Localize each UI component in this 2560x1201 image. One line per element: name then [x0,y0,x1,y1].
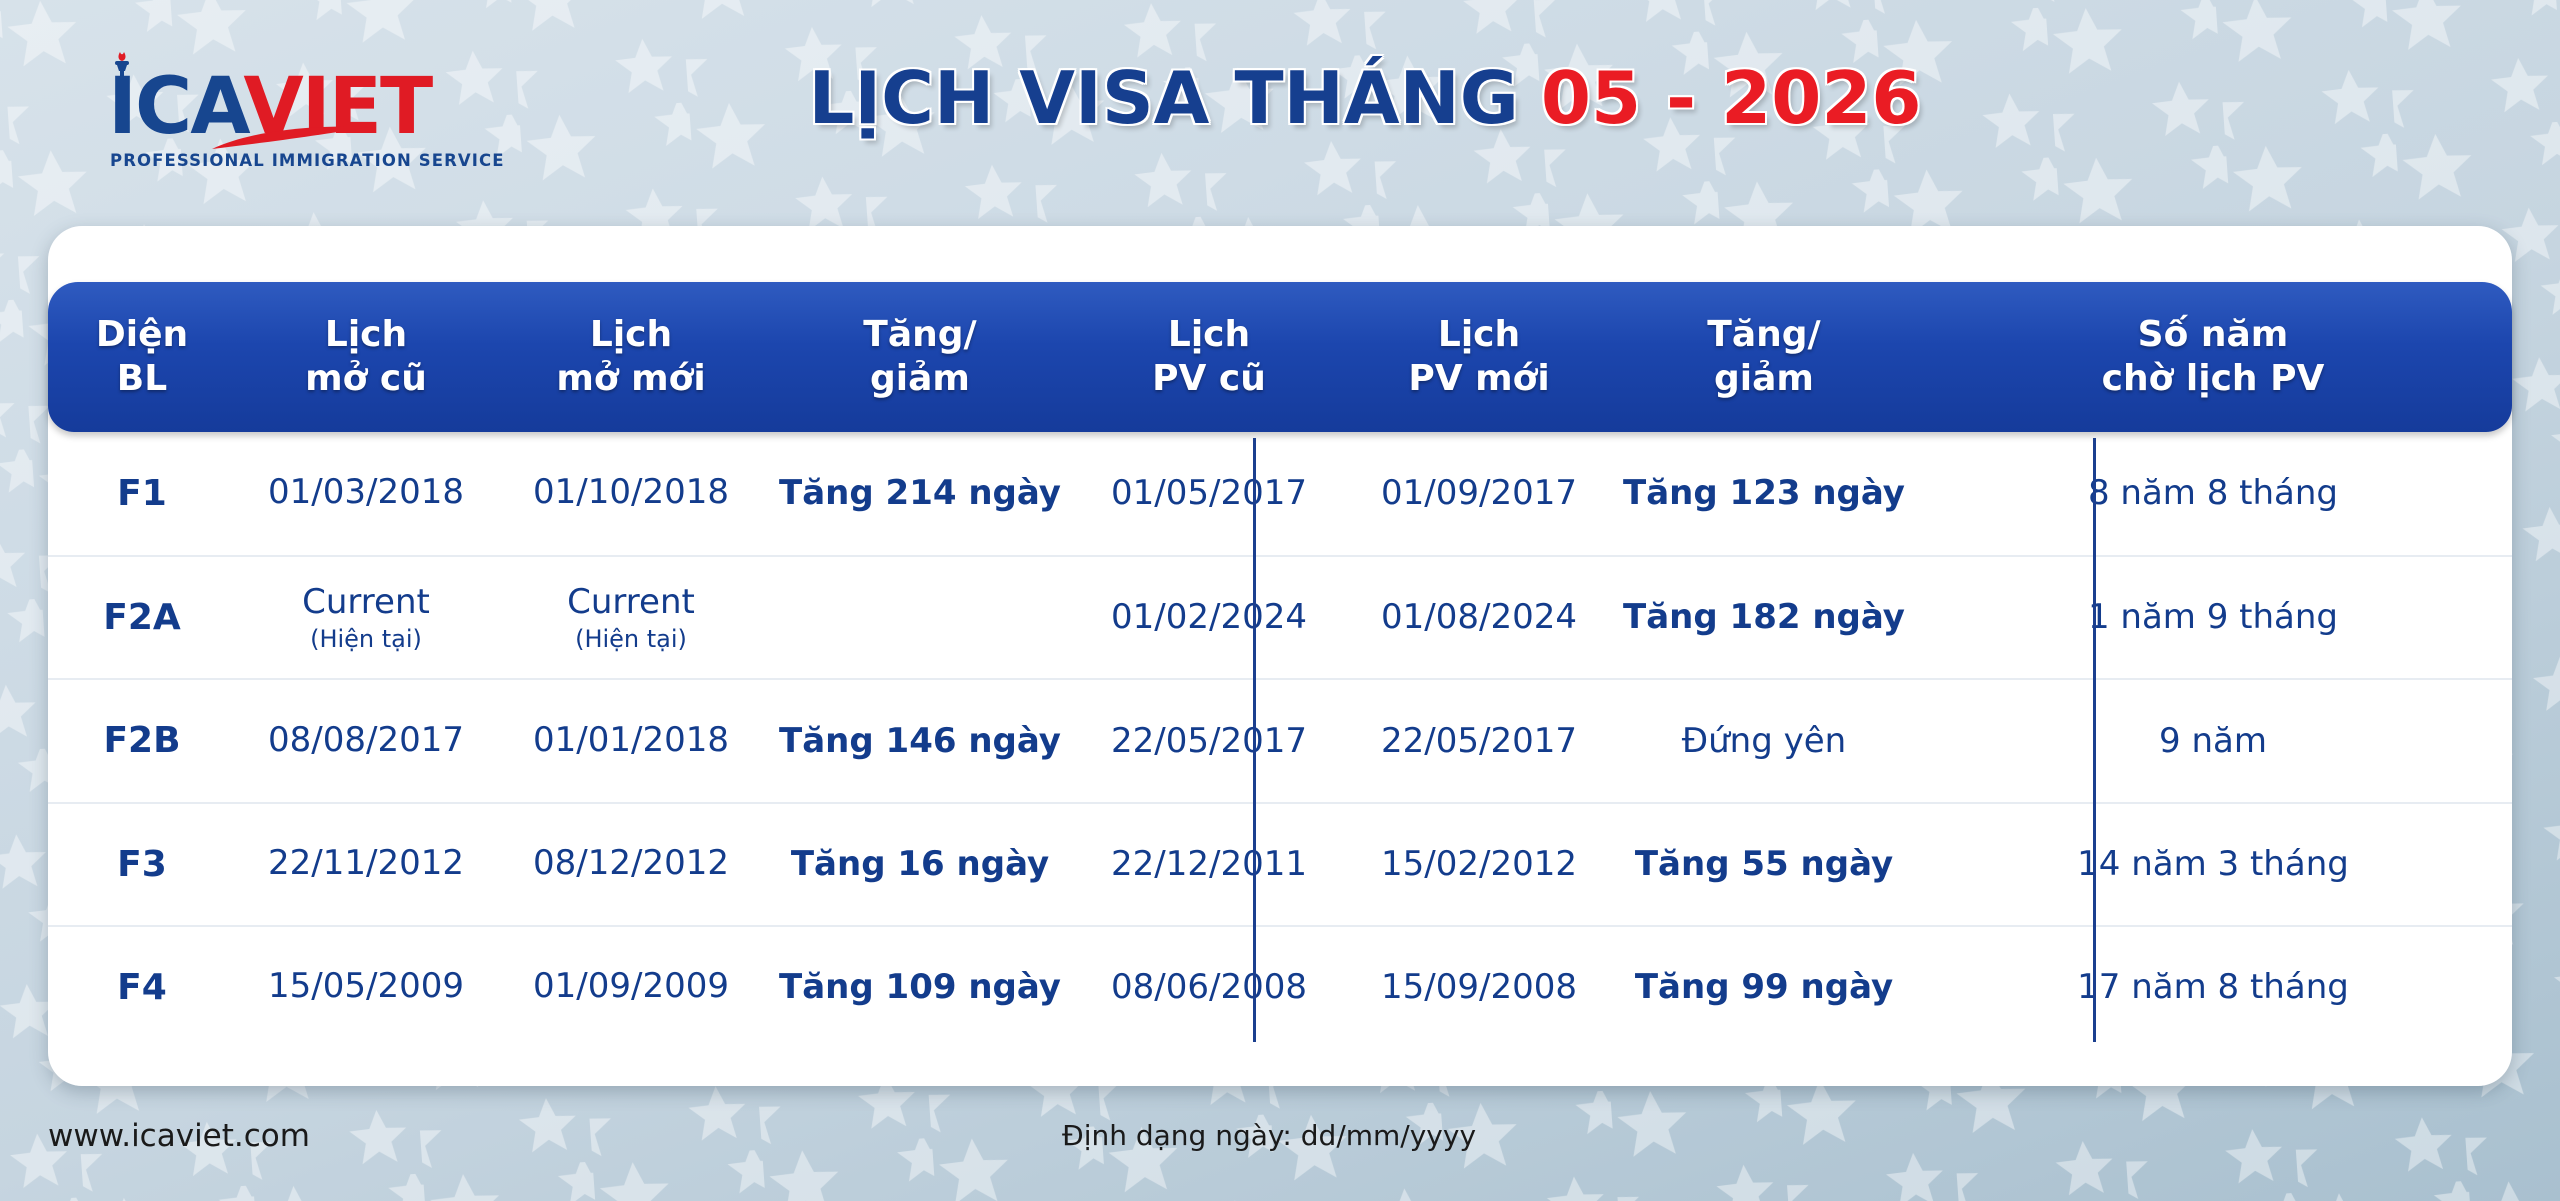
cell-category: F3 [48,804,236,925]
vertical-divider-fd-pv [1253,438,1256,1042]
table-row: F3 22/11/2012 08/12/2012 Tăng 16 ngày 22… [48,802,2512,925]
cell-pv-delta: Tăng 182 ngày [1614,557,1914,678]
cell-pv-delta: Tăng 55 ngày [1614,804,1914,925]
cell-pv-delta: Tăng 123 ngày [1614,432,1914,555]
table-row: F2B 08/08/2017 01/01/2018 Tăng 146 ngày … [48,678,2512,801]
table-row: F1 01/03/2018 01/10/2018 Tăng 214 ngày 0… [48,432,2512,555]
date-format-note: Định dạng ngày: dd/mm/yyyy [1062,1119,1476,1152]
value: 15/05/2009 [268,966,464,1007]
cell-wait-time: 9 năm [1914,680,2512,801]
cell-fd-old: 01/03/2018 [236,432,496,555]
cell-fd-old: 22/11/2012 [236,804,496,925]
column-header-lich-pv-moi: Lịch PV mới [1344,282,1614,432]
title-month-year: 05 - 2026 [1541,62,1922,134]
column-header-so-nam-cho: Số năm chờ lịch PV [1914,282,2512,432]
column-header-lich-mo-cu: Lịch mở cũ [236,282,496,432]
column-header-dien-bl: Diện BL [48,282,236,432]
column-header-lich-pv-cu: Lịch PV cũ [1074,282,1344,432]
header-line-2: PV mới [1408,357,1549,401]
value: Current [567,582,695,623]
cell-category: F1 [48,432,236,555]
cell-fd-new: 01/01/2018 [496,680,766,801]
value: 01/01/2018 [533,720,729,761]
cell-pv-new: 01/08/2024 [1344,557,1614,678]
value: 22/11/2012 [268,843,464,884]
header-line-1: Lịch [1438,313,1520,357]
cell-wait-time: 1 năm 9 tháng [1914,557,2512,678]
cell-pv-new: 15/02/2012 [1344,804,1614,925]
table-row: F4 15/05/2009 01/09/2009 Tăng 109 ngày 0… [48,925,2512,1048]
column-header-tang-giam-fd: Tăng/ giảm [766,282,1074,432]
cell-fd-old: Current (Hiện tại) [236,557,496,678]
cell-pv-new: 22/05/2017 [1344,680,1614,801]
logo-swoosh-icon [210,123,370,153]
cell-pv-new: 01/09/2017 [1344,432,1614,555]
page-title: LỊCH VISA THÁNG 05 - 2026 [740,48,1990,148]
table-body: F1 01/03/2018 01/10/2018 Tăng 214 ngày 0… [48,432,2512,1048]
cell-fd-delta: Tăng 16 ngày [766,804,1074,925]
table-header-row: Diện BL Lịch mở cũ Lịch mở mới Tăng/ giả… [48,282,2512,432]
header-line-1: Tăng/ [863,313,976,357]
cell-fd-old: 08/08/2017 [236,680,496,801]
header-line-2: giảm [1714,357,1814,401]
cell-category: F2B [48,680,236,801]
header-line-1: Tăng/ [1707,313,1820,357]
title-main-text: LỊCH VISA THÁNG [808,62,1518,134]
header-line-2: chờ lịch PV [2102,357,2325,401]
table-row: F2A Current (Hiện tại) Current (Hiện tại… [48,555,2512,678]
cell-wait-time: 17 năm 8 tháng [1914,927,2512,1048]
header-line-1: Lịch [325,313,407,357]
cell-wait-time: 8 năm 8 tháng [1914,432,2512,555]
cell-fd-delta: Tăng 109 ngày [766,927,1074,1048]
cell-fd-new: 01/09/2009 [496,927,766,1048]
header-line-2: mở cũ [305,357,427,401]
header-line-1: Lịch [590,313,672,357]
value: Current [302,582,430,623]
value: 08/12/2012 [533,843,729,884]
cell-pv-new: 15/09/2008 [1344,927,1614,1048]
cell-category: F4 [48,927,236,1048]
cell-fd-delta: Tăng 146 ngày [766,680,1074,801]
cell-pv-old: 01/02/2024 [1074,557,1344,678]
value: 01/03/2018 [268,472,464,513]
value: 01/10/2018 [533,472,729,513]
header-line-1: Số năm [2138,313,2289,357]
cell-pv-delta: Tăng 99 ngày [1614,927,1914,1048]
cell-fd-delta: Tăng 214 ngày [766,432,1074,555]
cell-fd-delta [766,557,1074,678]
value: 08/08/2017 [268,720,464,761]
logo-tagline: PROFESSIONAL IMMIGRATION SERVICE [110,151,505,170]
cell-category: F2A [48,557,236,678]
cell-fd-new: 08/12/2012 [496,804,766,925]
header-line-2: mở mới [556,357,705,401]
cell-pv-old: 22/05/2017 [1074,680,1344,801]
cell-wait-time: 14 năm 3 tháng [1914,804,2512,925]
cell-fd-old: 15/05/2009 [236,927,496,1048]
cell-pv-old: 08/06/2008 [1074,927,1344,1048]
website-url[interactable]: www.icaviet.com [48,1118,310,1154]
header-line-1: Lịch [1168,313,1250,357]
header-line-2: BL [117,357,167,401]
vertical-divider-pv-wait [2093,438,2096,1042]
page-footer: www.icaviet.com Định dạng ngày: dd/mm/yy… [0,1086,2560,1201]
page-header: ICAVIET PROFESSIONAL IMMIGRATION SERVICE… [0,0,2560,225]
cell-fd-new: 01/10/2018 [496,432,766,555]
cell-pv-old: 22/12/2011 [1074,804,1344,925]
value-sub: (Hiện tại) [310,625,422,654]
header-line-2: PV cũ [1152,357,1266,401]
header-line-1: Diện [96,313,188,357]
value: 01/09/2009 [533,966,729,1007]
column-header-tang-giam-pv: Tăng/ giảm [1614,282,1914,432]
cell-pv-delta: Đứng yên [1614,680,1914,801]
column-header-lich-mo-moi: Lịch mở mới [496,282,766,432]
cell-pv-old: 01/05/2017 [1074,432,1344,555]
header-line-2: giảm [870,357,970,401]
brand-logo[interactable]: ICAVIET PROFESSIONAL IMMIGRATION SERVICE [100,48,500,178]
visa-bulletin-card: Diện BL Lịch mở cũ Lịch mở mới Tăng/ giả… [48,226,2512,1086]
cell-fd-new: Current (Hiện tại) [496,557,766,678]
value-sub: (Hiện tại) [575,625,687,654]
